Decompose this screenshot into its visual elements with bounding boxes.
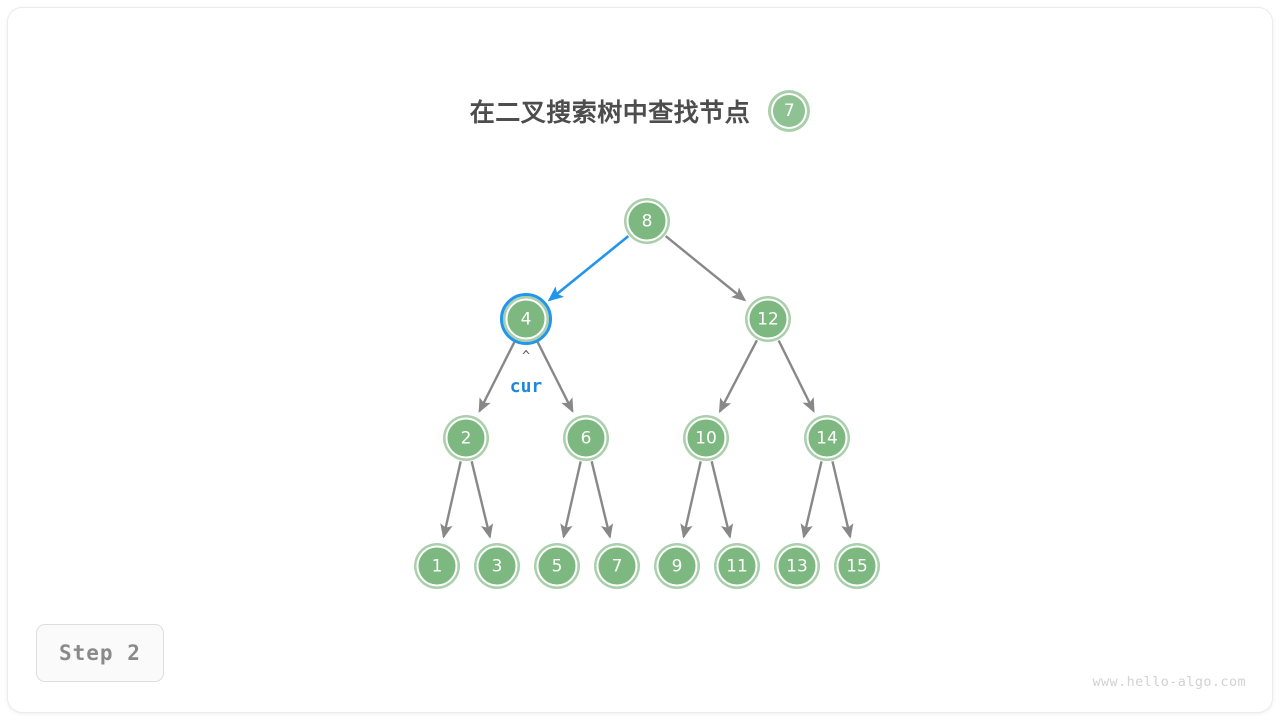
tree-edge xyxy=(684,461,701,536)
node-value-label: 14 xyxy=(816,429,838,449)
tree-edge xyxy=(712,461,730,537)
tree-edge xyxy=(592,461,610,537)
step-badge: Step 2 xyxy=(36,624,164,682)
node-value-label: 3 xyxy=(492,557,503,577)
tree-node[interactable]: 6 xyxy=(563,415,609,461)
node-value-label: 13 xyxy=(786,557,808,577)
tree-edge xyxy=(779,341,814,412)
node-value-label: 1 xyxy=(432,557,443,577)
node-value-label: 2 xyxy=(461,429,472,449)
edge-layer xyxy=(444,236,851,537)
tree-node[interactable]: 12 xyxy=(745,296,791,342)
pointer-layer: ^ cur xyxy=(510,349,543,397)
tree-node[interactable]: 13 xyxy=(774,543,820,589)
node-layer: 841226101413579111315 xyxy=(414,198,880,589)
tree-node[interactable]: 5 xyxy=(534,543,580,589)
tree-edge xyxy=(720,340,757,411)
tree-node[interactable]: 4 xyxy=(502,295,551,344)
tree-node[interactable]: 1 xyxy=(414,543,460,589)
tree-edge xyxy=(804,461,822,536)
node-value-label: 4 xyxy=(521,310,532,330)
tree-edge xyxy=(549,236,628,300)
tree-node[interactable]: 3 xyxy=(474,543,520,589)
node-value-label: 11 xyxy=(726,557,748,577)
node-value-label: 9 xyxy=(672,557,683,577)
tree-node[interactable]: 15 xyxy=(834,543,880,589)
node-value-label: 12 xyxy=(757,310,779,330)
tree-node[interactable]: 10 xyxy=(683,415,729,461)
tree-node[interactable]: 9 xyxy=(654,543,700,589)
pointer-label-cur: cur xyxy=(510,376,543,397)
tree-edge xyxy=(666,236,745,300)
binary-search-tree: 841226101413579111315 ^ cur xyxy=(8,8,1272,712)
tree-edge xyxy=(444,461,461,536)
tree-node[interactable]: 2 xyxy=(443,415,489,461)
tree-edge xyxy=(564,461,581,536)
tree-node[interactable]: 7 xyxy=(594,543,640,589)
tree-node[interactable]: 11 xyxy=(714,543,760,589)
tree-node[interactable]: 8 xyxy=(624,198,670,244)
tree-edge xyxy=(832,461,850,536)
node-value-label: 7 xyxy=(612,557,623,577)
node-value-label: 5 xyxy=(552,557,563,577)
watermark: www.hello-algo.com xyxy=(1093,674,1247,690)
diagram-canvas: 在二叉搜索树中查找节点 7 841226101413579111315 ^ cu… xyxy=(8,8,1272,712)
tree-edge xyxy=(472,461,490,537)
node-value-label: 6 xyxy=(581,429,592,449)
node-value-label: 10 xyxy=(695,429,717,449)
pointer-caret-icon: ^ xyxy=(522,349,530,364)
node-value-label: 15 xyxy=(846,557,868,577)
node-value-label: 8 xyxy=(642,212,653,232)
tree-node[interactable]: 14 xyxy=(804,415,850,461)
